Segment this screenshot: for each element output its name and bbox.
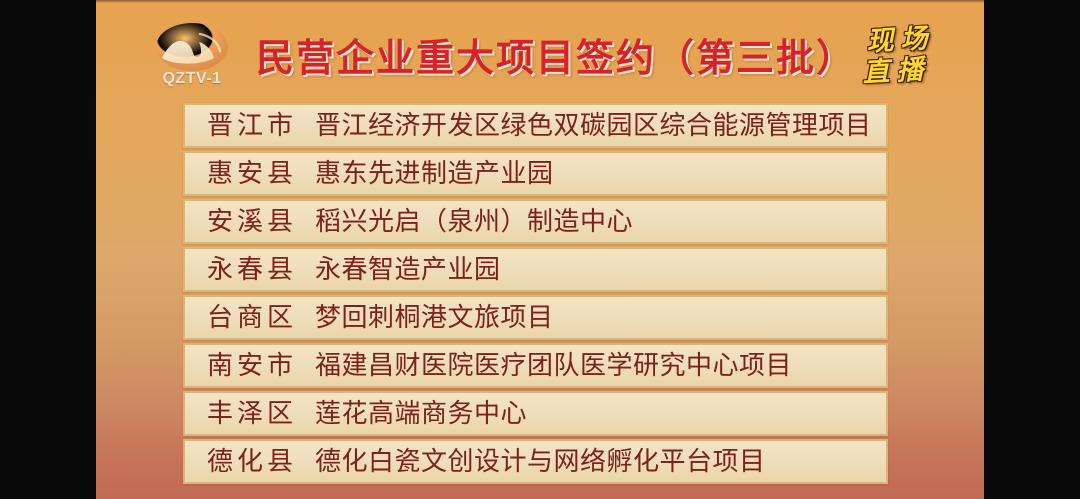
table-row: 安溪县稻兴光启（泉州）制造中心 xyxy=(183,199,888,244)
letterbox-right xyxy=(984,0,1080,499)
row-city: 晋江市 xyxy=(185,111,315,141)
row-project: 晋江经济开发区绿色双碳园区综合能源管理项目 xyxy=(315,111,886,141)
row-project: 惠东先进制造产业园 xyxy=(315,159,886,189)
table-row: 丰泽区莲花高端商务中心 xyxy=(183,391,888,436)
table-row: 惠安县惠东先进制造产业园 xyxy=(183,151,888,196)
row-city: 安溪县 xyxy=(185,207,315,237)
header: QZTV-1 民营企业重大项目签约（第三批） 现场 直播 xyxy=(96,0,984,100)
table-row: 晋江市晋江经济开发区绿色双碳园区综合能源管理项目 xyxy=(183,103,888,148)
broadcast-frame: QZTV-1 民营企业重大项目签约（第三批） 现场 直播 晋江市晋江经济开发区绿… xyxy=(96,0,984,499)
table-row: 德化县德化白瓷文创设计与网络孵化平台项目 xyxy=(183,439,888,484)
row-project: 梦回刺桐港文旅项目 xyxy=(315,303,886,333)
qztv-wave-logo-icon xyxy=(154,22,230,72)
row-city: 南安市 xyxy=(185,351,315,381)
row-project: 永春智造产业园 xyxy=(315,255,886,285)
row-project: 福建昌财医院医疗团队医学研究中心项目 xyxy=(315,351,886,381)
table-row: 台商区梦回刺桐港文旅项目 xyxy=(183,295,888,340)
row-city: 台商区 xyxy=(185,303,315,333)
row-city: 永春县 xyxy=(185,255,315,285)
row-city: 丰泽区 xyxy=(185,399,315,429)
broadcast-screen: QZTV-1 民营企业重大项目签约（第三批） 现场 直播 晋江市晋江经济开发区绿… xyxy=(0,0,1080,499)
live-badge-line-2: 直播 xyxy=(837,54,948,90)
live-broadcast-badge: 现场 直播 xyxy=(838,26,948,98)
row-city: 德化县 xyxy=(185,447,315,477)
channel-call-sign: QZTV-1 xyxy=(146,70,238,88)
channel-logo: QZTV-1 xyxy=(146,22,238,92)
row-city: 惠安县 xyxy=(185,159,315,189)
live-badge-line-1: 现场 xyxy=(841,23,952,59)
row-project: 莲花高端商务中心 xyxy=(315,399,886,429)
letterbox-left xyxy=(0,0,96,499)
table-row: 永春县永春智造产业园 xyxy=(183,247,888,292)
row-project: 德化白瓷文创设计与网络孵化平台项目 xyxy=(315,447,886,477)
row-project: 稻兴光启（泉州）制造中心 xyxy=(315,207,886,237)
page-title: 民营企业重大项目签约（第三批） xyxy=(256,36,856,80)
signing-project-list: 晋江市晋江经济开发区绿色双碳园区综合能源管理项目惠安县惠东先进制造产业园安溪县稻… xyxy=(183,103,888,487)
table-row: 南安市福建昌财医院医疗团队医学研究中心项目 xyxy=(183,343,888,388)
